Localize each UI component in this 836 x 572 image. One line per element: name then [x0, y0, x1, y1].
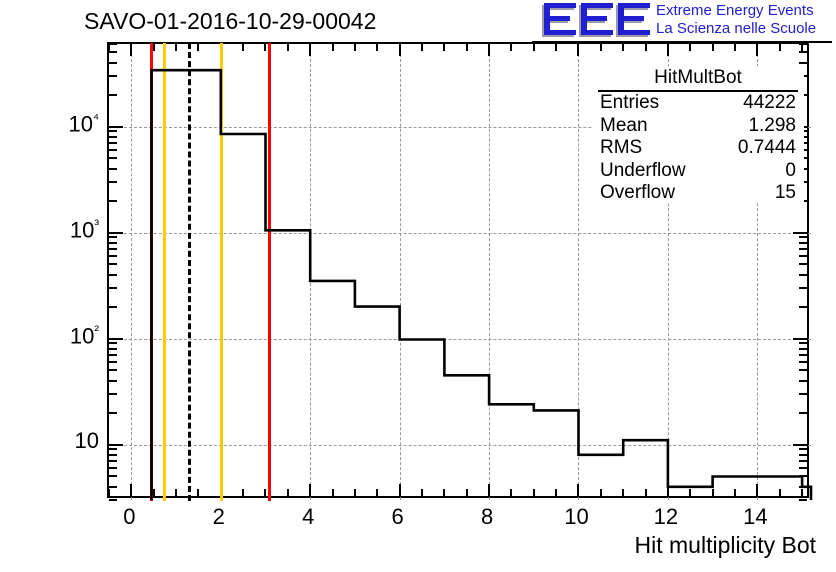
x-axis-tick-label: 10	[564, 504, 588, 530]
stats-box: HitMultBot Entries44222Mean1.298RMS0.744…	[592, 66, 804, 203]
x-axis-title: Hit multiplicity Bot	[635, 532, 816, 559]
stats-row-key: RMS	[600, 137, 642, 160]
stats-row: Underflow0	[592, 160, 804, 183]
y-axis-tick-label: 10⁴	[35, 110, 99, 137]
stats-row-value: 44222	[743, 92, 796, 115]
stats-row: Entries44222	[592, 92, 804, 115]
stats-title: HitMultBot	[598, 66, 798, 92]
stats-row-value: 0.7444	[738, 137, 796, 160]
y-axis-tick-label: 10³	[35, 216, 99, 243]
stats-rows: Entries44222Mean1.298RMS0.7444Underflow0…	[592, 92, 804, 205]
page-title: SAVO-01-2016-10-29-00042	[84, 8, 376, 35]
x-axis-tick-label: 4	[302, 504, 314, 530]
x-axis-tick-label: 14	[743, 504, 767, 530]
stats-row: Mean1.298	[592, 115, 804, 138]
stats-row-value: 1.298	[748, 115, 796, 138]
y-axis-tick-label: 10	[35, 428, 99, 454]
stats-row: Overflow15	[592, 182, 804, 205]
x-axis-tick-label: 6	[392, 504, 404, 530]
x-axis-tick-label: 8	[481, 504, 493, 530]
stats-row: RMS0.7444	[592, 137, 804, 160]
x-axis-tick-label: 12	[654, 504, 678, 530]
x-axis-tick-label: 0	[123, 504, 135, 530]
stats-row-value: 0	[785, 160, 796, 183]
stats-row-key: Underflow	[600, 160, 686, 183]
logo-line-2: La Scienza nelle Scuole	[656, 20, 816, 38]
stats-row-key: Overflow	[600, 182, 675, 205]
stats-row-value: 15	[775, 182, 796, 205]
logo-text: Extreme Energy Events La Scienza nelle S…	[656, 2, 816, 38]
stats-row-key: Mean	[600, 115, 648, 138]
logo-line-1: Extreme Energy Events	[656, 2, 816, 20]
stats-row-key: Entries	[600, 92, 659, 115]
x-axis-tick-label: 2	[213, 504, 225, 530]
eee-logo: Extreme Energy Events La Scienza nelle S…	[532, 1, 832, 41]
y-axis-tick-label: 10²	[35, 322, 99, 349]
root-canvas: SAVO-01-2016-10-29-00042 Extreme Ene	[0, 0, 836, 572]
eee-mark-icon	[542, 3, 652, 39]
